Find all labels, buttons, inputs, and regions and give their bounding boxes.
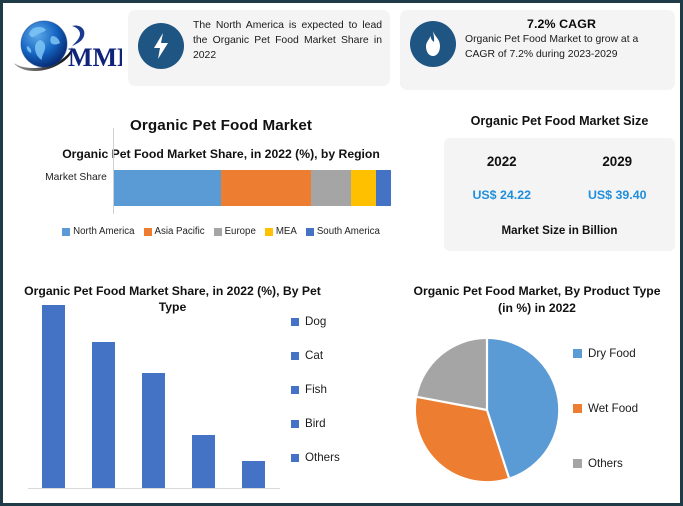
bar-segment-mea [351, 170, 376, 206]
market-size-panel: Organic Pet Food Market Size 2022 US$ 24… [436, 99, 683, 277]
pie-svg [411, 334, 563, 486]
legend-swatch-north-america [62, 228, 70, 236]
header-card-cagr-body: 7.2% CAGR Organic Pet Food Market to gro… [456, 17, 667, 63]
legend-item-europe: Europe [214, 226, 256, 237]
region-stacked-bar [114, 170, 391, 206]
legend-item-mea: MEA [265, 226, 297, 237]
pet-type-baseline [28, 488, 280, 489]
legend-swatch-mea [265, 228, 273, 236]
svg-text:MMR: MMR [68, 43, 122, 72]
legend-item-others-product: Others [573, 457, 638, 470]
legend-swatch-europe [214, 228, 222, 236]
legend-label-mea: MEA [276, 226, 297, 237]
legend-label-wet-food: Wet Food [588, 402, 638, 415]
legend-label-others-product: Others [588, 457, 623, 470]
column-slot-bird [178, 305, 228, 488]
legend-item-fish: Fish [291, 383, 396, 396]
legend-item-wet-food: Wet Food [573, 402, 638, 415]
legend-item-asia-pacific: Asia Pacific [144, 226, 205, 237]
product-type-legend: Dry Food Wet Food Others [573, 347, 638, 470]
globe-logo-icon: MMR [10, 16, 122, 82]
market-size-year-2029: 2029 [560, 154, 676, 169]
column-bar-bird [192, 435, 215, 488]
legend-item-north-america: North America [62, 226, 134, 237]
legend-item-bird: Bird [291, 417, 396, 430]
market-size-footer: Market Size in Billion [444, 224, 675, 237]
product-type-panel: Organic Pet Food Market, By Product Type… [403, 277, 683, 506]
region-chart-title: Organic Pet Food Market Share, in 2022 (… [6, 146, 436, 162]
pet-type-plot [28, 307, 278, 497]
column-slot-fish [128, 305, 178, 488]
legend-swatch-others-pet [291, 454, 299, 462]
page-title: Organic Pet Food Market [6, 117, 436, 134]
bar-segment-south-america [376, 170, 391, 206]
legend-label-south-america: South America [317, 226, 380, 237]
bar-segment-north-america [114, 170, 221, 206]
product-type-pie [411, 334, 563, 486]
column-slot-others [228, 305, 278, 488]
legend-swatch-wet-food [573, 404, 582, 413]
legend-label-cat: Cat [305, 349, 323, 362]
pet-type-panel: Organic Pet Food Market Share, in 2022 (… [6, 277, 403, 506]
column-bar-others [242, 461, 265, 488]
header-card-cagr-text: Organic Pet Food Market to grow at a CAG… [465, 33, 667, 63]
region-chart-plot: Market Share [6, 166, 436, 218]
market-size-years-row: 2022 US$ 24.22 2029 US$ 39.40 [444, 154, 675, 202]
legend-swatch-others-product [573, 459, 582, 468]
flame-glyph [423, 30, 443, 58]
market-size-value-2029: US$ 39.40 [560, 188, 676, 202]
product-type-chart-title: Organic Pet Food Market, By Product Type… [403, 277, 683, 316]
bar-segment-europe [311, 170, 351, 206]
legend-swatch-dry-food [573, 349, 582, 358]
column-slot-dog [28, 305, 78, 488]
header-card-region-text: The North America is expected to lead th… [193, 19, 382, 63]
legend-swatch-dog [291, 318, 299, 326]
flame-icon [410, 21, 456, 67]
market-size-year-2022: 2022 [444, 154, 560, 169]
legend-label-dry-food: Dry Food [588, 347, 636, 360]
legend-item-others-pet: Others [291, 451, 396, 464]
legend-item-dry-food: Dry Food [573, 347, 638, 360]
header-card-region: The North America is expected to lead th… [128, 10, 390, 86]
legend-swatch-cat [291, 352, 299, 360]
legend-swatch-fish [291, 386, 299, 394]
legend-label-dog: Dog [305, 315, 326, 328]
infographic-canvas: MMR The North America is expected to lea… [0, 0, 683, 506]
column-bar-cat [92, 342, 115, 488]
market-size-col-2029: 2029 US$ 39.40 [560, 154, 676, 202]
legend-swatch-south-america [306, 228, 314, 236]
header-card-cagr: 7.2% CAGR Organic Pet Food Market to gro… [400, 10, 675, 90]
market-size-col-2022: 2022 US$ 24.22 [444, 154, 560, 202]
lightning-bolt-icon [138, 23, 184, 69]
pet-type-bars [28, 305, 278, 488]
bar-segment-asia-pacific [221, 170, 311, 206]
legend-label-fish: Fish [305, 383, 327, 396]
legend-label-asia-pacific: Asia Pacific [155, 226, 205, 237]
column-bar-fish [142, 373, 165, 488]
legend-label-europe: Europe [225, 226, 256, 237]
market-size-box: 2022 US$ 24.22 2029 US$ 39.40 Market Siz… [444, 138, 675, 251]
region-chart-category-label: Market Share [44, 172, 108, 185]
pet-type-legend: Dog Cat Fish Bird Others [291, 315, 396, 464]
column-bar-dog [42, 305, 65, 488]
mmr-logo: MMR [3, 3, 128, 95]
region-chart-legend: North America Asia Pacific Europe MEA So… [6, 226, 436, 237]
region-share-panel: Organic Pet Food Market Organic Pet Food… [6, 99, 436, 277]
header-bar: MMR The North America is expected to lea… [3, 3, 680, 99]
legend-swatch-bird [291, 420, 299, 428]
legend-label-north-america: North America [73, 226, 134, 237]
legend-label-others-pet: Others [305, 451, 340, 464]
legend-item-dog: Dog [291, 315, 396, 328]
legend-item-south-america: South America [306, 226, 380, 237]
market-size-title: Organic Pet Food Market Size [436, 114, 683, 128]
market-size-value-2022: US$ 24.22 [444, 188, 560, 202]
legend-swatch-asia-pacific [144, 228, 152, 236]
column-slot-cat [78, 305, 128, 488]
legend-item-cat: Cat [291, 349, 396, 362]
legend-label-bird: Bird [305, 417, 326, 430]
cagr-title: 7.2% CAGR [456, 17, 667, 31]
lightning-bolt-glyph [151, 32, 171, 60]
